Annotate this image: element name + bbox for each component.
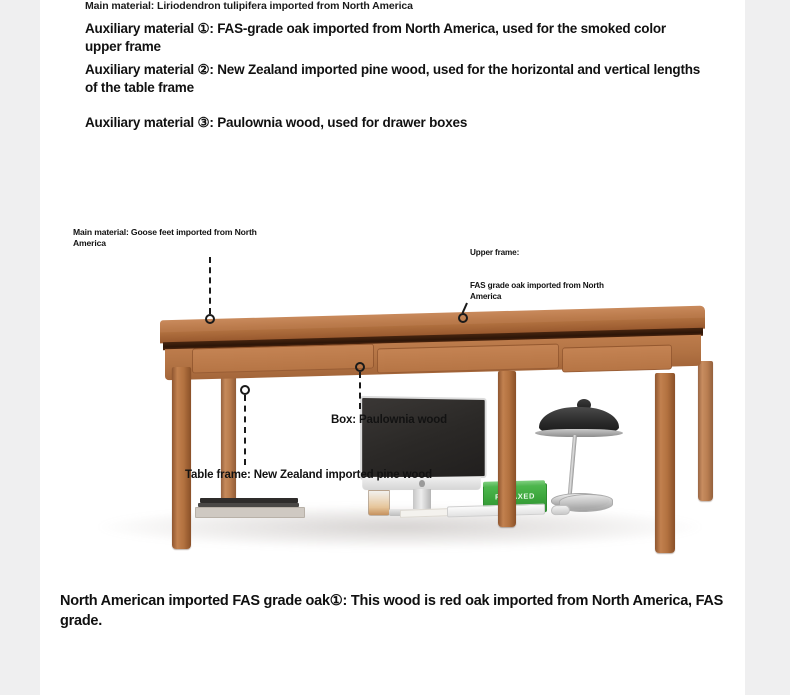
spec-main-material: Main material: Liriodendron tulipifera i… [85, 0, 705, 14]
bottom-caption: North American imported FAS grade oak①: … [60, 591, 740, 631]
spec-aux-material-1: Auxiliary material ①: FAS-grade oak impo… [85, 20, 705, 56]
leader-line-drawer-box [359, 372, 361, 409]
annotation-drawer-box: Box: Paulownia wood [331, 413, 456, 427]
desk-leg-front-right [655, 373, 675, 553]
lamp-stem [568, 435, 577, 497]
monitor-neck [413, 489, 431, 511]
desk-drawer-center[interactable] [377, 344, 559, 374]
leader-line-table-frame [244, 395, 246, 465]
lamp-shade-rim [535, 429, 623, 437]
specification-block: Main material: Liriodendron tulipifera i… [85, 0, 705, 137]
desk-leg-middle [498, 371, 516, 527]
leader-line-goose-feet [209, 257, 211, 314]
desk-drawer-right[interactable] [562, 345, 672, 373]
marker-upper-frame [458, 313, 468, 323]
marker-goose-feet [205, 314, 215, 324]
annotation-upper-frame-title: Upper frame: [470, 248, 530, 259]
annotation-table-frame: Table frame: New Zealand imported pine w… [185, 468, 453, 482]
book-bottom [195, 507, 305, 518]
spec-aux-material-3: Auxiliary material ③: Paulownia wood, us… [85, 114, 705, 132]
desk-leg-front-left [172, 367, 191, 549]
spec-aux-material-2: Auxiliary material ②: New Zealand import… [85, 61, 705, 97]
marker-drawer-box [355, 362, 365, 372]
mouse [551, 505, 570, 516]
marker-table-frame [240, 385, 250, 395]
product-photo: RELAXED Main material: Goose feet import… [55, 185, 730, 575]
content-page: Main material: Liriodendron tulipifera i… [40, 0, 745, 695]
desk-leg-back-right [698, 361, 713, 501]
annotation-goose-feet: Main material: Goose feet imported from … [73, 227, 263, 249]
annotation-upper-frame-body: FAS grade oak imported from North Americ… [470, 281, 635, 302]
desk-drawer-left[interactable] [192, 344, 374, 374]
